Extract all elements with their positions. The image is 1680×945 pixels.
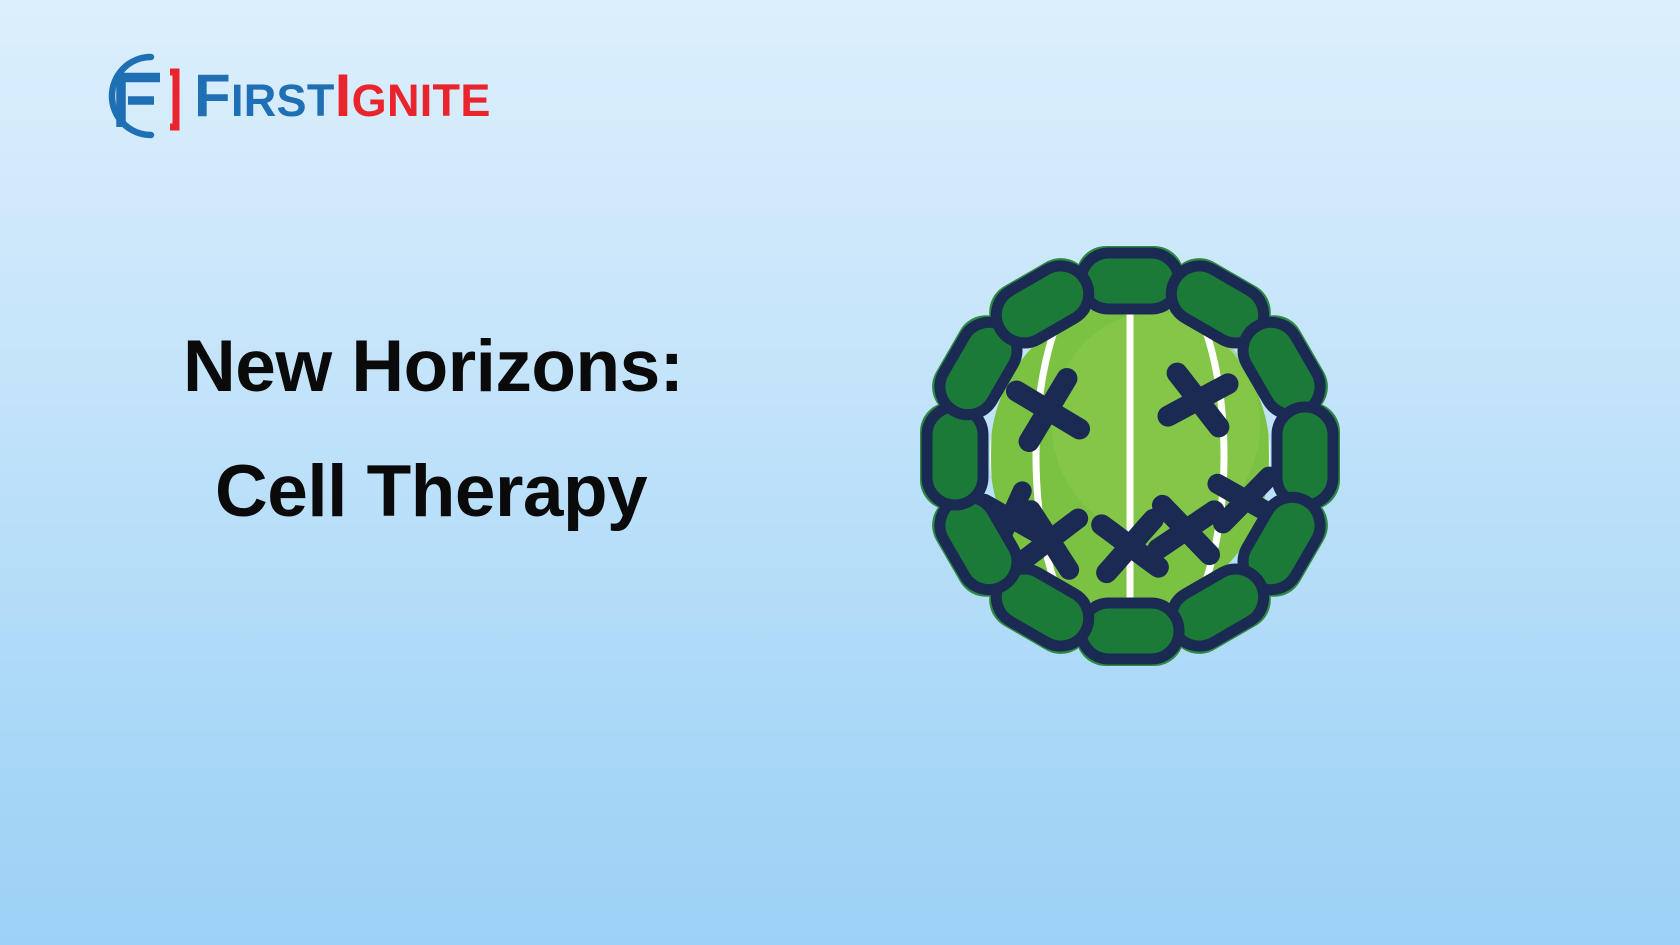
wordmark-first-lead: F: [194, 62, 231, 129]
title-line-1: New Horizons:: [183, 330, 900, 403]
capsule: [1081, 253, 1179, 309]
wordmark-ignite-lead: I: [335, 62, 352, 129]
firstignite-logo[interactable]: FIRSTIGNITE: [88, 48, 491, 144]
capsule: [1277, 407, 1333, 505]
firstignite-logo-mark: [88, 48, 190, 144]
capsule: [1081, 603, 1179, 659]
wordmark-first-rest: IRST: [231, 75, 335, 126]
capsule: [927, 407, 983, 505]
firstignite-wordmark: FIRSTIGNITE: [194, 66, 491, 126]
slide-canvas: FIRSTIGNITE New Horizons: Cell Therapy: [0, 0, 1680, 945]
wordmark-ignite: IGNITE: [335, 66, 491, 126]
cell-diagram-svg: [898, 228, 1360, 672]
page-title: New Horizons: Cell Therapy: [0, 330, 900, 528]
title-line-2: Cell Therapy: [215, 455, 900, 528]
wordmark-first: FIRST: [194, 66, 335, 126]
dividing-cell-illustration: [898, 228, 1360, 672]
wordmark-ignite-rest: GNITE: [352, 75, 491, 126]
